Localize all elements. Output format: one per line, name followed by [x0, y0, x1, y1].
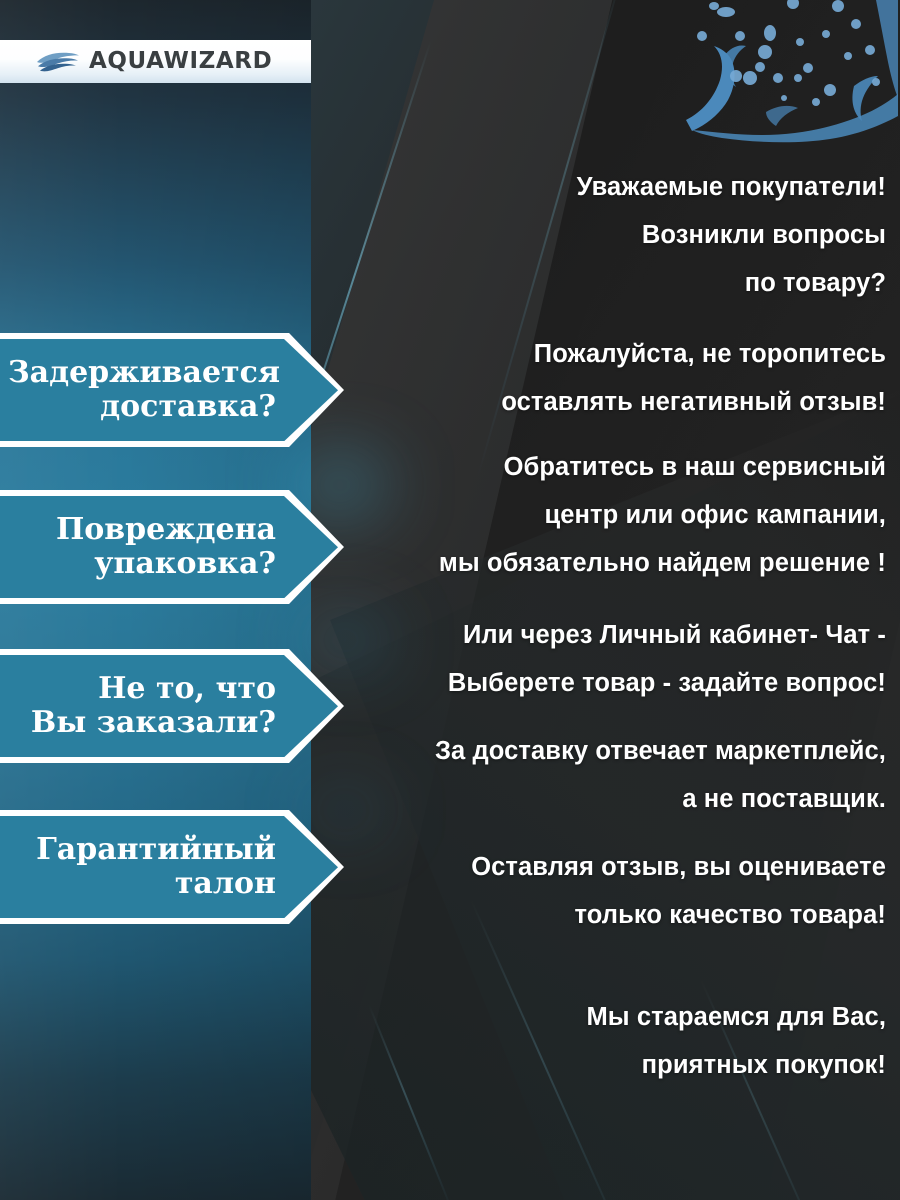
tab-delivery-delayed[interactable]: Задерживается доставка? [0, 339, 344, 441]
tab-label-line1: Не то, что [98, 671, 276, 706]
tab-warranty-card[interactable]: Гарантийный талон [0, 816, 344, 918]
promo-card: AQUAWIZARD Задерживается доставка? Повре… [0, 0, 900, 1200]
tab-label-line2: упаковка? [94, 546, 276, 581]
tab-label-line2: Вы заказали? [31, 705, 276, 740]
message-paragraph: Оставляя отзыв, вы оцениваете только кач… [330, 843, 886, 939]
tab-damaged-packaging[interactable]: Повреждена упаковка? [0, 496, 344, 598]
message-paragraph: Или через Личный кабинет- Чат - Выберете… [330, 611, 886, 707]
tab-label-line1: Гарантийный [36, 832, 276, 867]
tab-label: Гарантийный талон [0, 816, 338, 918]
tab-label-line1: Задерживается [8, 355, 280, 390]
message-paragraph: Уважаемые покупатели! Возникли вопросы п… [330, 163, 886, 307]
tab-label: Задерживается доставка? [0, 339, 338, 441]
message-paragraph: Обратитесь в наш сервисный центр или офи… [330, 443, 886, 587]
message-column: Уважаемые покупатели! Возникли вопросы п… [330, 0, 900, 1200]
message-paragraph: Мы стараемся для Вас, приятных покупок! [330, 993, 886, 1089]
tab-label-line2: доставка? [100, 389, 276, 424]
tab-wrong-item[interactable]: Не то, что Вы заказали? [0, 655, 344, 757]
tab-label-line1: Повреждена [56, 512, 276, 547]
brand-logo-band: AQUAWIZARD [0, 40, 311, 83]
tab-label: Повреждена упаковка? [0, 496, 338, 598]
tab-label-line2: талон [175, 866, 276, 901]
tab-label: Не то, что Вы заказали? [0, 655, 338, 757]
message-paragraph: Пожалуйста, не торопитесь оставлять нега… [330, 330, 886, 426]
water-wave-icon [36, 51, 80, 73]
message-paragraph: За доставку отвечает маркетплейс, а не п… [330, 727, 886, 823]
brand-logo-text: AQUAWIZARD [89, 50, 272, 73]
